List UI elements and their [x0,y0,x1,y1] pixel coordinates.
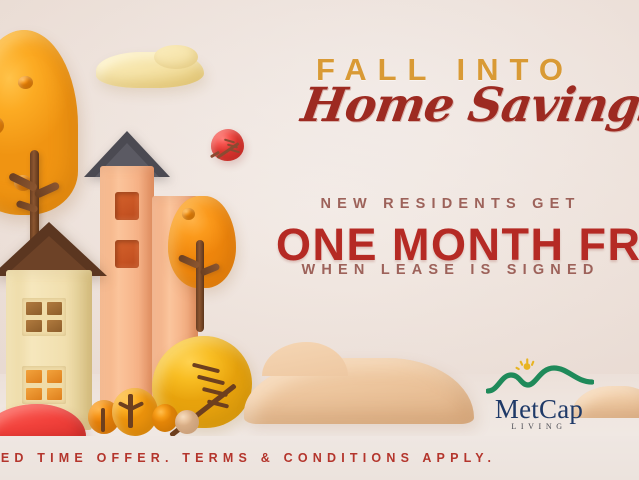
leaf-vein [192,363,220,374]
house-window [115,192,139,220]
advertisement-banner: FALL INTO Home Savings! NEW RESIDENTS GE… [0,0,639,480]
tree-dot [182,208,195,220]
leaf-vein [197,375,225,386]
terms-text: TED TIME OFFER. TERMS & CONDITIONS APPLY… [0,451,496,465]
leaf-vein [202,387,228,397]
metcap-logo[interactable]: MetCap LIVING [478,358,600,438]
red-leaf-icon [211,129,244,161]
offer-eyebrow: NEW RESIDENTS GET [262,196,639,212]
bush-stem [101,408,105,432]
bush-stem [128,394,133,428]
pumpkin-bush [152,404,178,432]
autumn-clay-scene [0,0,300,448]
tree-trunk [196,240,204,332]
house-window-grid [22,298,66,336]
pebble-bush [175,410,199,434]
cream-cloud-icon [96,52,204,88]
house-window [115,240,139,268]
house-window-grid [22,366,66,404]
offer-subline: WHEN LEASE IS SIGNED [262,262,639,278]
leaf-vein [230,149,240,154]
leaf-vein [224,139,235,144]
hill-sun-icon [486,358,594,398]
terms-bar: TED TIME OFFER. TERMS & CONDITIONS APPLY… [0,436,639,480]
logo-wordmark: MetCap [478,394,600,425]
tree-dot [18,76,33,89]
orange-tree-large-icon [0,30,78,215]
tree-dot [0,116,4,135]
pumpkin-bush [112,388,158,436]
headline-line2-script: Home Savings! [298,78,639,133]
cream-house-roof [0,222,107,276]
logo-tagline: LIVING [478,422,600,431]
